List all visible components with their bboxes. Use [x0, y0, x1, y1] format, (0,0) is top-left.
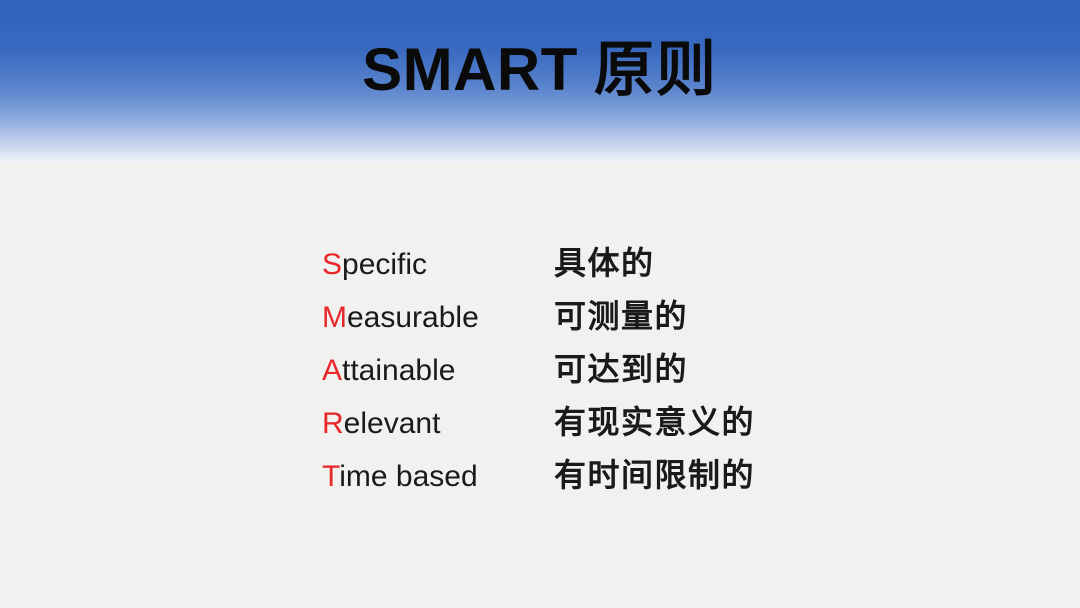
list-item: Measurable 可测量的: [322, 299, 842, 352]
principle-translation: 具体的: [554, 246, 655, 280]
list-item: Relevant 有现实意义的: [322, 405, 842, 458]
principle-initial: R: [322, 407, 344, 440]
principle-translation: 可测量的: [554, 299, 688, 333]
list-item: Time based 有时间限制的: [322, 458, 842, 511]
principle-initial: M: [322, 301, 347, 334]
principle-term: Time based: [322, 460, 554, 494]
page-title: SMART原则: [0, 38, 1080, 101]
principle-term-rest: easurable: [347, 301, 479, 334]
page-title-cjk: 原则: [594, 36, 718, 103]
principle-term: Specific: [322, 248, 554, 282]
header-gradient-band: SMART原则: [0, 0, 1080, 168]
principle-term: Attainable: [322, 354, 554, 388]
slide-canvas: SMART原则 Specific 具体的 Measurable 可测量的 Att…: [0, 0, 1080, 608]
principle-term: Relevant: [322, 407, 554, 441]
principle-term-rest: ttainable: [342, 354, 455, 387]
principle-term-rest: ime based: [339, 460, 477, 493]
principle-term-rest: elevant: [344, 407, 441, 440]
page-title-latin: SMART: [362, 36, 578, 103]
list-item: Attainable 可达到的: [322, 352, 842, 405]
principle-translation: 可达到的: [554, 352, 688, 386]
principle-initial: S: [322, 248, 342, 281]
principle-term: Measurable: [322, 301, 554, 335]
list-item: Specific 具体的: [322, 246, 842, 299]
principles-list: Specific 具体的 Measurable 可测量的 Attainable …: [322, 246, 842, 511]
principle-term-rest: pecific: [342, 248, 427, 281]
principle-initial: A: [322, 354, 342, 387]
principle-translation: 有时间限制的: [554, 458, 755, 492]
principle-translation: 有现实意义的: [554, 405, 755, 439]
principle-initial: T: [322, 460, 339, 493]
